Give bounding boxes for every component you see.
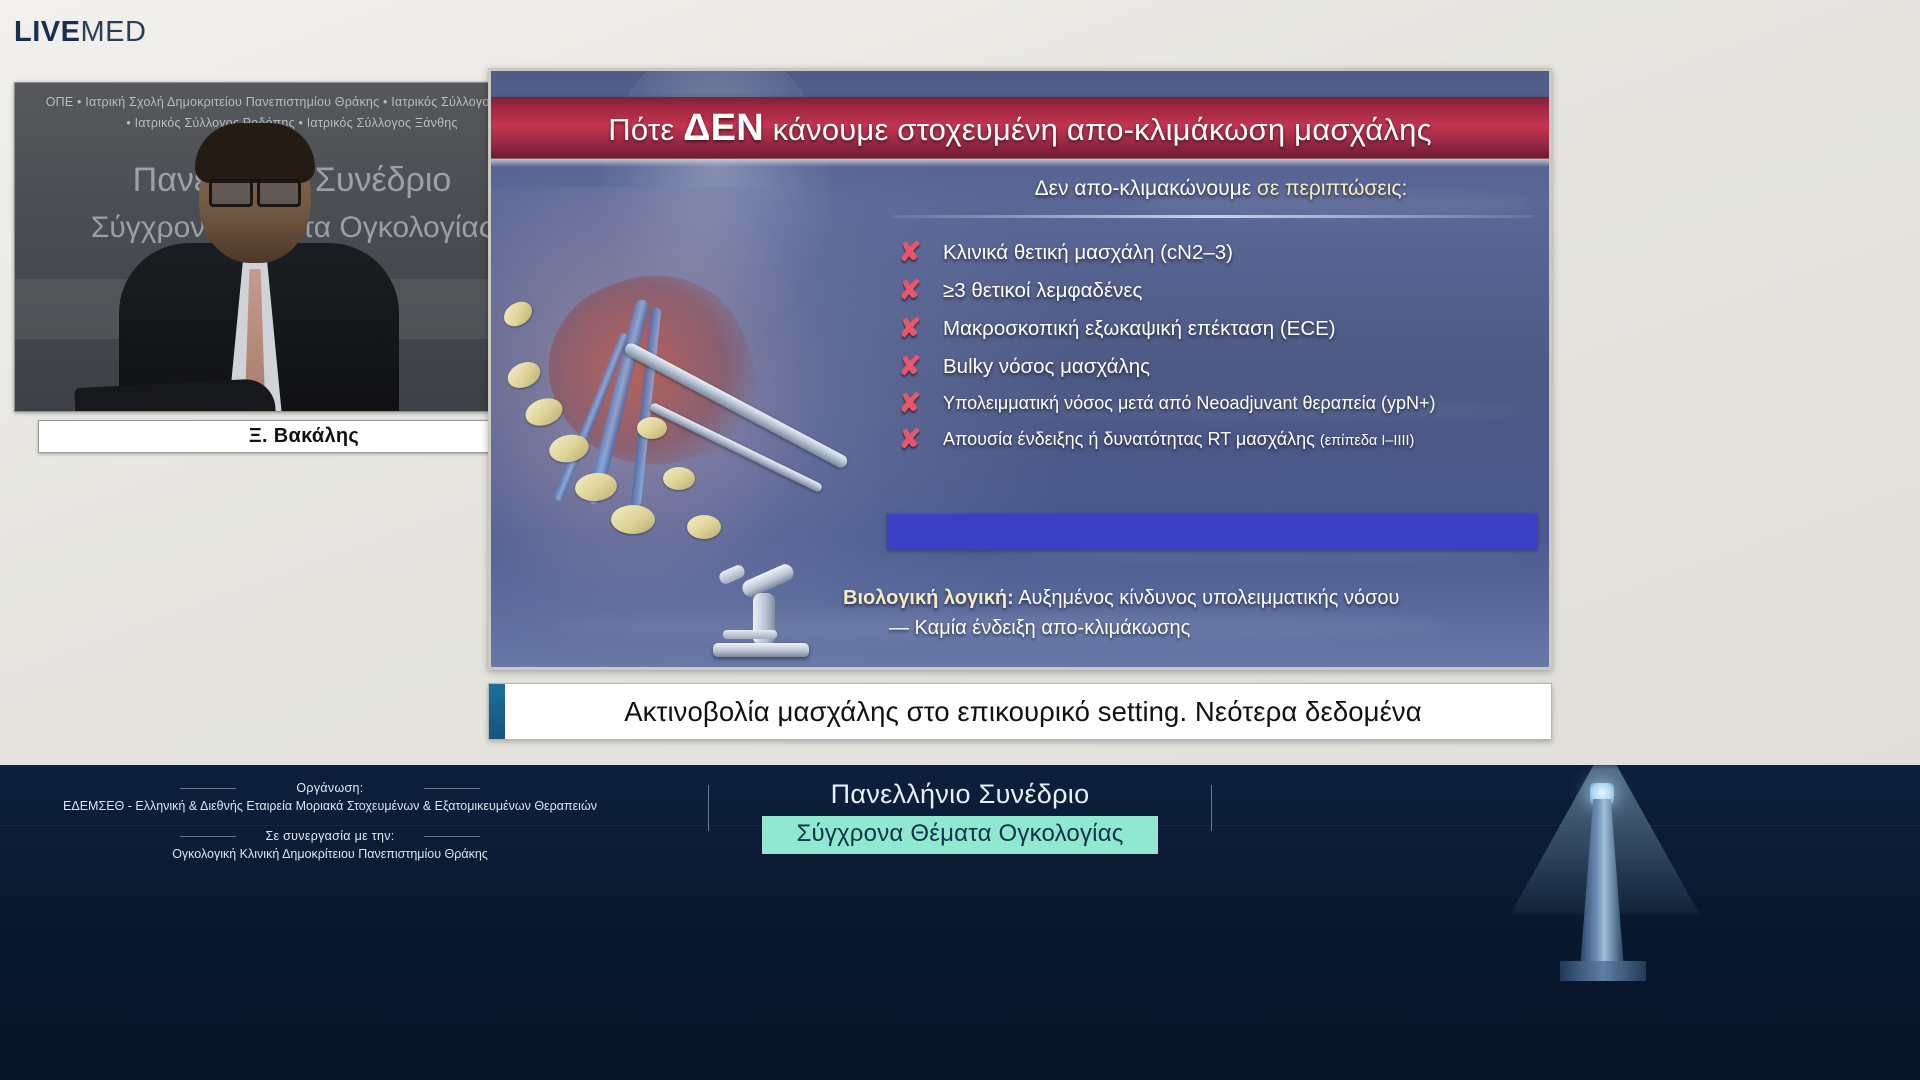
event-subtitle-badge: Σύγχρονα Θέματα Ογκολογίας (762, 816, 1157, 854)
slide-bullet-list: Δεν απο-κλιμακώνουμε σε περιπτώσεις: ✘ Κ… (887, 167, 1552, 567)
subheading-divider (893, 215, 1534, 218)
page-footer: Οργάνωση: ΕΔΕΜΣΕΘ - Ελληνική & Διεθνής Ε… (0, 765, 1920, 1080)
title-glow (491, 159, 1549, 167)
presentation-title-banner: Ακτινοβολία μασχάλης στο επικουρικό sett… (488, 683, 1552, 740)
speaker-name: Ξ. Βακάλης (249, 425, 359, 448)
slide-title-bar: Πότε ΔΕΝ κάνουμε στοχευμένη απο-κλιμάκωσ… (491, 97, 1549, 159)
lymph-node (663, 467, 695, 490)
bullet-text-note: (επίπεδα I–IIII) (1320, 433, 1415, 449)
slide-title: Πότε ΔΕΝ κάνουμε στοχευμένη απο-κλιμάκωσ… (608, 107, 1431, 150)
list-item: ✘ Bulky νόσος μασχάλης (895, 353, 1150, 380)
cross-icon: ✘ (895, 426, 925, 453)
microscope-stage (723, 630, 777, 639)
slide-canvas: Πότε ΔΕΝ κάνουμε στοχευμένη απο-κλιμάκωσ… (491, 71, 1549, 667)
cross-icon: ✘ (895, 277, 925, 304)
backdrop-line-1: ΟΠΕ • Ιατρική Σχολή Δημοκριτείου Πανεπισ… (15, 95, 569, 109)
slide-title-post: κάνουμε στοχευμένη απο-κλιμάκωση μασχάλη… (764, 112, 1432, 147)
speaker-panel: ΟΠΕ • Ιατρική Σχολή Δημοκριτείου Πανεπισ… (14, 82, 570, 457)
conclusion-line-2: — Καμία ένδειξη απο-κλιμάκωσης (843, 613, 1400, 643)
list-item: ✘ Μακροσκοπική εξωκαψική επέκταση (ECE) (895, 315, 1336, 342)
list-item: ✘ Κλινικά θετική μασχάλη (cN2–3) (895, 239, 1233, 266)
lighthouse-logo (1420, 765, 1780, 1080)
lighthouse-base (1560, 961, 1646, 981)
bullet-text: Απουσία ένδειξης ή δυνατότητας RT μασχάλ… (943, 429, 1414, 450)
slide-blue-highlight-box (887, 514, 1537, 550)
cross-icon: ✘ (895, 353, 925, 380)
conclusion-label: Βιολογική λογική: (843, 587, 1014, 609)
presentation-slide[interactable]: Πότε ΔΕΝ κάνουμε στοχευμένη απο-κλιμάκωσ… (488, 68, 1552, 670)
microscope-base (713, 643, 809, 657)
presentation-title: Ακτινοβολία μασχάλης στο επικουρικό sett… (505, 696, 1551, 728)
banner-accent-bar (489, 684, 505, 739)
slide-subheading: Δεν απο-κλιμακώνουμε σε περιπτώσεις: (887, 177, 1552, 201)
subheading-accent: σε περιπτώσεις: (1257, 177, 1407, 200)
bullet-text: ≥3 θετικοί λεμφαδένες (943, 279, 1142, 303)
microscope-eyepiece (717, 563, 746, 585)
bullet-text: Κλινικά θετική μασχάλη (cN2–3) (943, 241, 1233, 265)
logo-regular-part: MED (80, 16, 146, 48)
list-item: ✘ Απουσία ένδειξης ή δυνατότητας RT μασχ… (895, 426, 1414, 453)
list-item: ✘ ≥3 θετικοί λεμφαδένες (895, 277, 1142, 304)
speaker-hair (195, 123, 315, 183)
logo-bold-part: LIVE (14, 16, 80, 48)
bullet-text-main: Απουσία ένδειξης ή δυνατότητας RT μασχάλ… (943, 429, 1320, 449)
conclusion-line-1: Αυξημένος κίνδυνος υπολειμματικής νόσου (1014, 587, 1400, 609)
cooperation-label: Σε συνεργασία με την: (0, 829, 660, 843)
speaker-video[interactable]: ΟΠΕ • Ιατρική Σχολή Δημοκριτείου Πανεπισ… (14, 82, 570, 412)
branding-tick (1211, 785, 1212, 831)
cross-icon: ✘ (895, 315, 925, 342)
microscope-icon (701, 566, 821, 661)
lymph-node (687, 515, 721, 539)
cross-icon: ✘ (895, 239, 925, 266)
slide-conclusion: Βιολογική λογική: Αυξημένος κίνδυνος υπο… (701, 563, 1552, 663)
page-header: LIVEMED (0, 0, 1920, 70)
slide-title-emphasis: ΔΕΝ (683, 107, 764, 149)
lymph-node (637, 417, 667, 439)
event-title: Πανελλήνιο Συνέδριο (660, 779, 1260, 810)
cooperation-name: Ογκολογική Κλινική Δημοκρίτειου Πανεπιστ… (0, 847, 660, 861)
organizer-name: ΕΔΕΜΣΕΘ - Ελληνική & Διεθνής Εταιρεία Μο… (0, 799, 660, 813)
speaker-glasses (211, 179, 299, 201)
conclusion-text: Βιολογική λογική: Αυξημένος κίνδυνος υπο… (843, 583, 1400, 643)
list-item: ✘ Υπολειμματική νόσος μετά από Neoadjuva… (895, 390, 1436, 417)
organizer-label: Οργάνωση: (0, 781, 660, 795)
cross-icon: ✘ (895, 390, 925, 417)
lymph-node (611, 505, 655, 534)
bullet-text: Bulky νόσος μασχάλης (943, 355, 1150, 379)
bullet-text: Υπολειμματική νόσος μετά από Neoadjuvant… (943, 393, 1436, 414)
branding-tick (708, 785, 709, 831)
subheading-main: Δεν απο-κλιμακώνουμε (1035, 177, 1257, 200)
bullet-text: Μακροσκοπική εξωκαψική επέκταση (ECE) (943, 317, 1336, 341)
footer-organizers: Οργάνωση: ΕΔΕΜΣΕΘ - Ελληνική & Διεθνής Ε… (0, 781, 660, 861)
slide-title-pre: Πότε (608, 112, 683, 147)
footer-event-branding: Πανελλήνιο Συνέδριο Σύγχρονα Θέματα Ογκο… (660, 779, 1260, 854)
livemed-logo[interactable]: LIVEMED (14, 16, 146, 49)
